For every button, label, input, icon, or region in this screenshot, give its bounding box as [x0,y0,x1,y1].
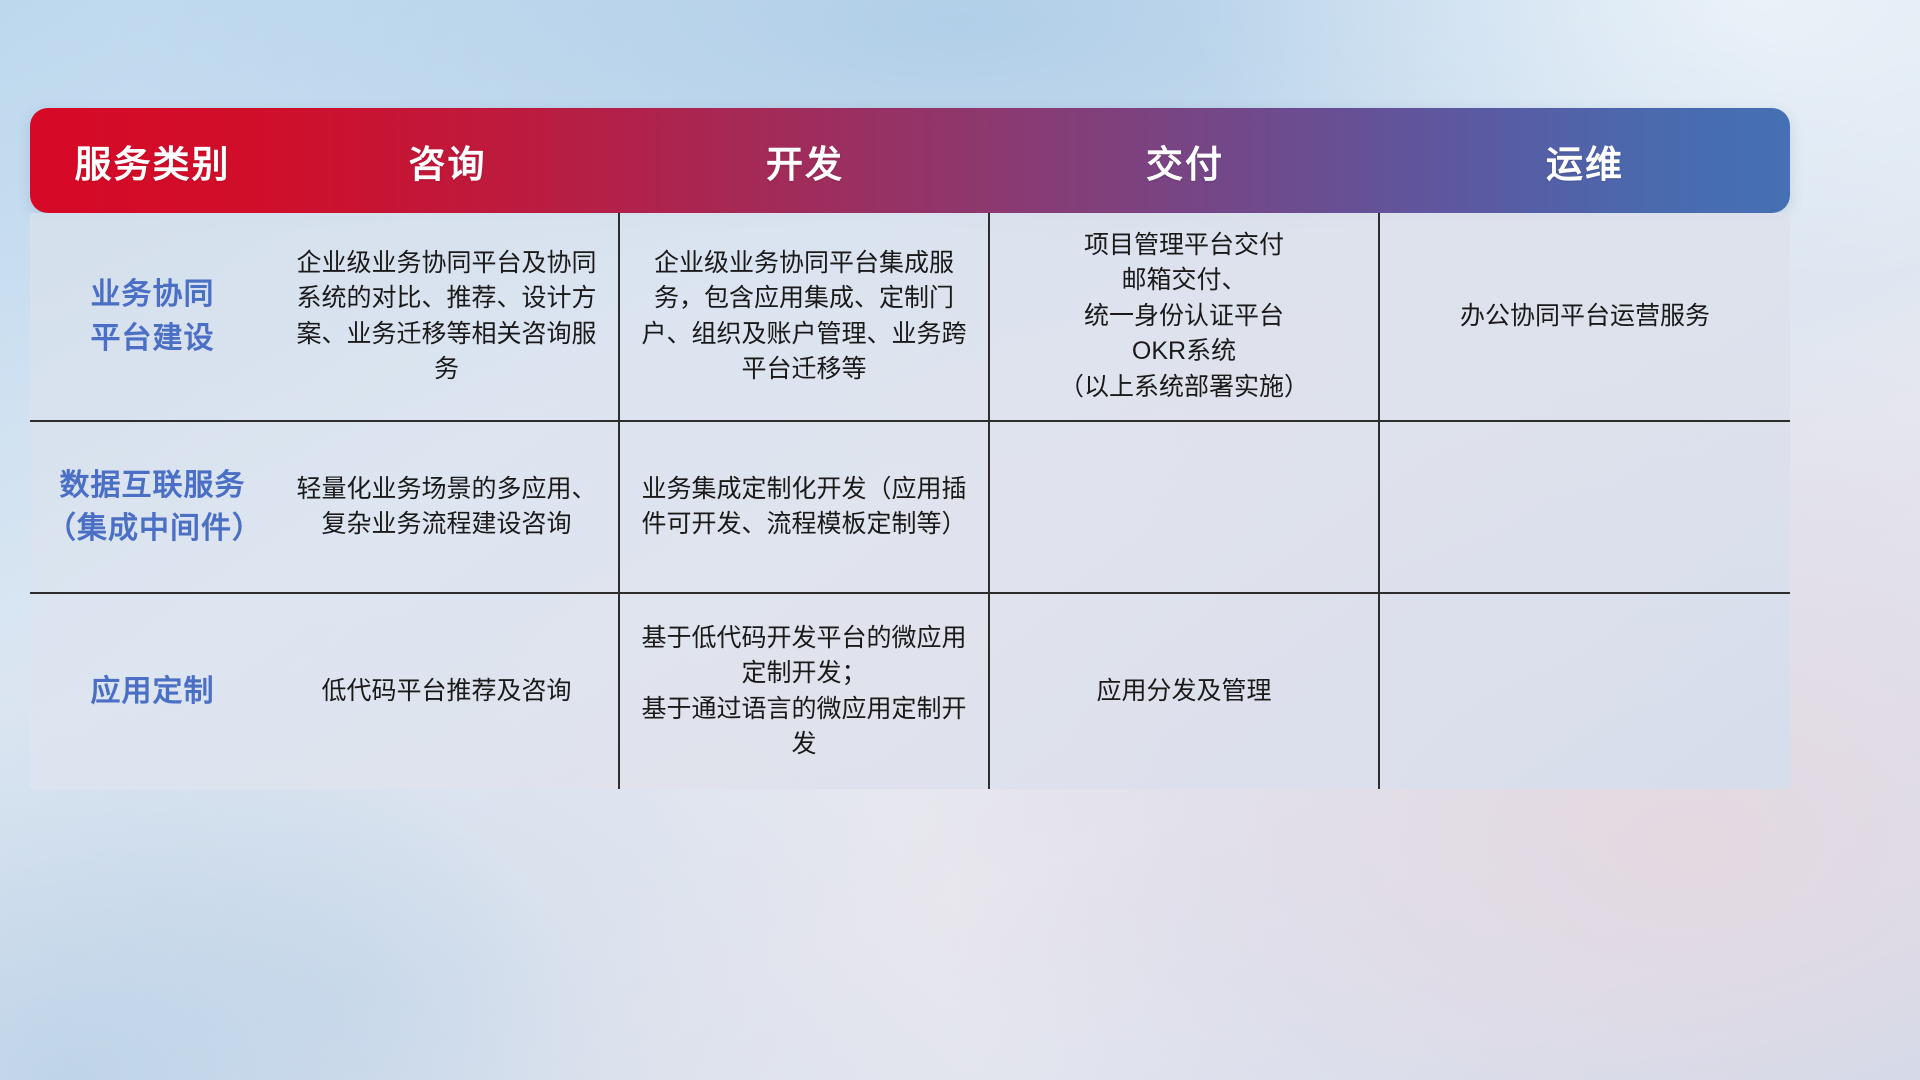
table-row: 业务协同平台建设 企业级业务协同平台及协同系统的对比、推荐、设计方案、业务迁移等… [30,213,1790,422]
cell-delivery: 应用分发及管理 [990,594,1380,789]
cell-consulting: 低代码平台推荐及咨询 [275,594,620,789]
row-label: 业务协同平台建设 [30,213,275,420]
table-row: 应用定制 低代码平台推荐及咨询 基于低代码开发平台的微应用定制开发；基于通过语言… [30,594,1790,789]
table-header-row: 服务类别 咨询 开发 交付 运维 [30,108,1790,213]
cell-delivery: 项目管理平台交付邮箱交付、统一身份认证平台OKR系统（以上系统部署实施） [990,213,1380,420]
cell-operations [1380,422,1790,592]
cell-consulting: 轻量化业务场景的多应用、复杂业务流程建设咨询 [275,422,620,592]
cell-development: 企业级业务协同平台集成服务，包含应用集成、定制门户、组织及账户管理、业务跨平台迁… [620,213,990,420]
column-header-development: 开发 [620,108,990,213]
cell-operations [1380,594,1790,789]
cell-operations: 办公协同平台运营服务 [1380,213,1790,420]
column-header-service-category: 服务类别 [30,108,275,213]
column-header-operations: 运维 [1380,108,1790,213]
cell-development: 业务集成定制化开发（应用插件可开发、流程模板定制等） [620,422,990,592]
cell-delivery [990,422,1380,592]
service-matrix-table: 服务类别 咨询 开发 交付 运维 业务协同平台建设 企业级业务协同平台及协同系统… [30,108,1790,789]
cell-development: 基于低代码开发平台的微应用定制开发；基于通过语言的微应用定制开发 [620,594,990,789]
column-header-delivery: 交付 [990,108,1380,213]
table-body: 业务协同平台建设 企业级业务协同平台及协同系统的对比、推荐、设计方案、业务迁移等… [30,213,1790,789]
row-label: 数据互联服务（集成中间件） [30,422,275,592]
cell-consulting: 企业级业务协同平台及协同系统的对比、推荐、设计方案、业务迁移等相关咨询服务 [275,213,620,420]
table-row: 数据互联服务（集成中间件） 轻量化业务场景的多应用、复杂业务流程建设咨询 业务集… [30,422,1790,594]
column-header-consulting: 咨询 [275,108,620,213]
row-label: 应用定制 [30,594,275,789]
